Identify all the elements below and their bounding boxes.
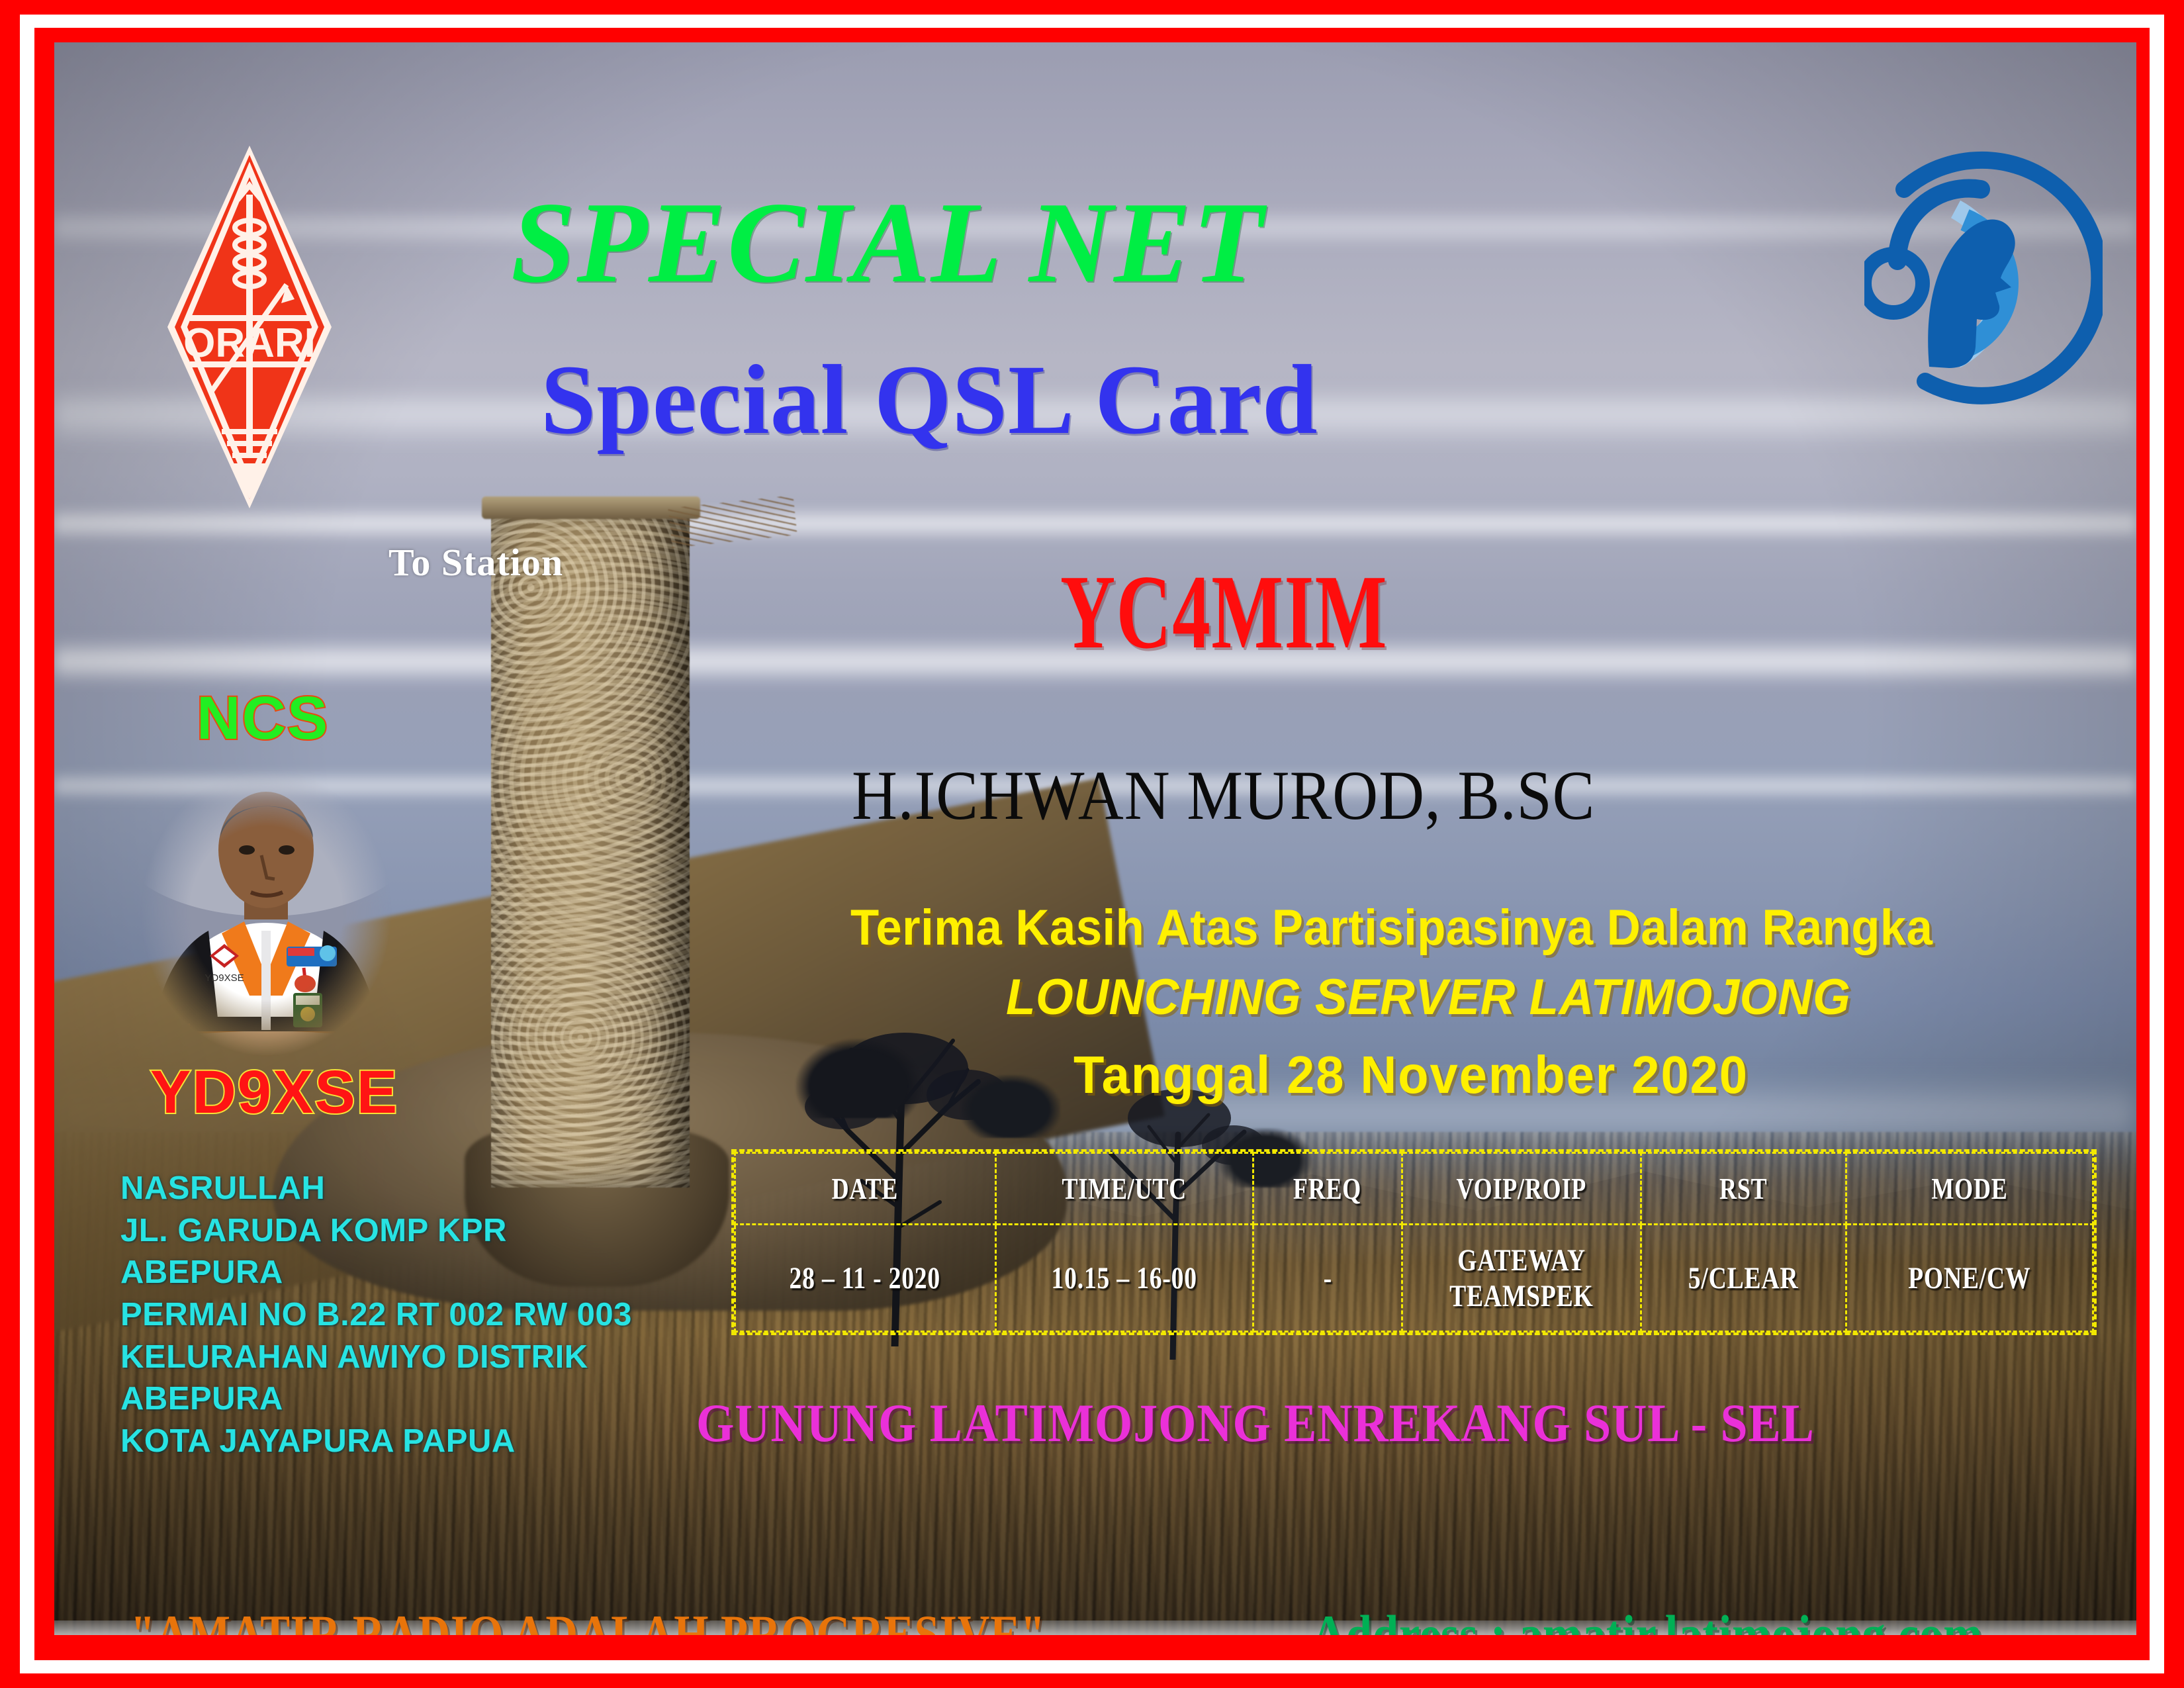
card-photo-background: ORARI bbox=[54, 42, 2136, 1635]
footer-web-address: Address : amatir.latimojong.com bbox=[1312, 1607, 1983, 1635]
table-header-mode: MODE bbox=[1846, 1153, 2093, 1225]
to-station-label: To Station bbox=[388, 543, 563, 582]
address-line: KELURAHAN AWIYO DISTRIK bbox=[120, 1336, 716, 1379]
cell-rst: 5/CLEAR bbox=[1641, 1225, 1846, 1332]
station-callsign: YC4MIM bbox=[1060, 559, 1388, 665]
bush-silhouette bbox=[796, 1039, 921, 1118]
qso-log-table: DATE TIME/UTC FREQ VOIP/ROIP RST MODE 28… bbox=[731, 1149, 2097, 1335]
address-line: NASRULLAH bbox=[120, 1168, 716, 1210]
table-header-freq: FREQ bbox=[1253, 1153, 1402, 1225]
qsl-card: ORARI bbox=[0, 0, 2184, 1688]
svg-text:ORARI: ORARI bbox=[183, 320, 316, 366]
table-row: 28 – 11 - 2020 10.15 – 16-00 - GATEWAY T… bbox=[735, 1225, 2093, 1332]
station-operator-name: H.ICHWAN MUROD, B.SC bbox=[852, 761, 1595, 831]
table-header-date: DATE bbox=[735, 1153, 996, 1225]
address-line: PERMAI NO B.22 RT 002 RW 003 bbox=[120, 1294, 716, 1336]
ncs-operator-photo: YD9XSE bbox=[124, 757, 408, 1068]
cell-mode: PONE/CW bbox=[1846, 1225, 2093, 1332]
table-header-row: DATE TIME/UTC FREQ VOIP/ROIP RST MODE bbox=[735, 1153, 2093, 1225]
ncs-address-block: NASRULLAH JL. GARUDA KOMP KPR ABEPURA PE… bbox=[120, 1168, 716, 1463]
address-line: ABEPURA bbox=[120, 1252, 716, 1294]
page-title: SPECIAL NET bbox=[511, 185, 1265, 301]
orari-logo: ORARI bbox=[163, 142, 336, 512]
address-line: JL. GARUDA KOMP KPR bbox=[120, 1210, 716, 1252]
table-header-time: TIME/UTC bbox=[995, 1153, 1253, 1225]
svg-text:YD9XSE: YD9XSE bbox=[205, 972, 244, 984]
cell-freq: - bbox=[1253, 1225, 1402, 1332]
headphone-radio-logo bbox=[1864, 148, 2103, 413]
pillar-cap bbox=[482, 496, 700, 519]
cell-date: 28 – 11 - 2020 bbox=[735, 1225, 996, 1332]
event-title-line: LOUNCHING SERVER LATIMOJONG bbox=[1006, 972, 1850, 1023]
address-line: KOTA JAYAPURA PAPUA bbox=[120, 1421, 716, 1463]
event-date-line: Tanggal 28 November 2020 bbox=[1073, 1049, 1749, 1102]
event-thanks-line: Terima Kasih Atas Partisipasinya Dalam R… bbox=[850, 903, 1933, 953]
table-header-voip: VOIP/ROIP bbox=[1402, 1153, 1641, 1225]
location-line: GUNUNG LATIMOJONG ENREKANG SUL - SEL bbox=[696, 1396, 1815, 1450]
bush-silhouette bbox=[961, 1075, 1060, 1138]
table-header-rst: RST bbox=[1641, 1153, 1846, 1225]
ncs-label: NCS bbox=[197, 688, 329, 749]
address-line: ABEPURA bbox=[120, 1378, 716, 1421]
footer-motto: "AMATIR RADIO ADALAH PROGRESIVE" bbox=[130, 1607, 1046, 1635]
ncs-callsign: YD9XSE bbox=[150, 1062, 398, 1123]
page-subtitle: Special QSL Card bbox=[541, 350, 1318, 449]
cell-voip: GATEWAY TEAMSPEK bbox=[1402, 1225, 1641, 1332]
cell-time: 10.15 – 16-00 bbox=[995, 1225, 1253, 1332]
stone-pillar-monument bbox=[491, 506, 690, 1188]
